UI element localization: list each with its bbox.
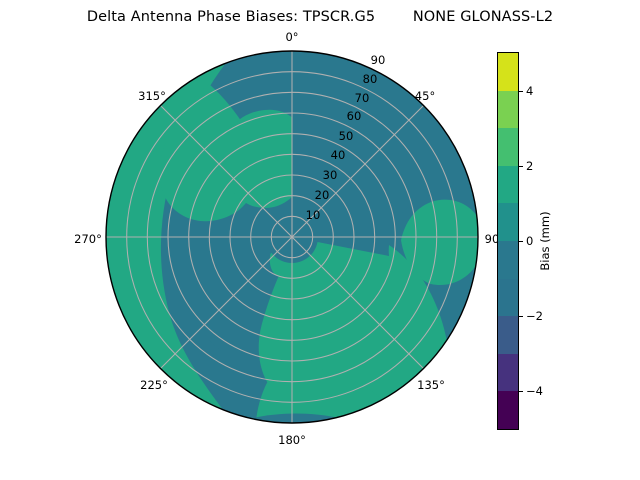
colorbar[interactable] — [497, 52, 519, 430]
theta-tick-270: 270° — [74, 232, 102, 246]
colorbar-band-8 — [498, 354, 518, 392]
colorbar-band-9 — [498, 391, 518, 429]
polar-plot-canvas — [105, 50, 479, 424]
colorbar-band-6 — [498, 279, 518, 317]
page-title: Delta Antenna Phase Biases: TPSCR.G5 NON… — [0, 9, 640, 25]
colorbar-band-2 — [498, 128, 518, 166]
cb-tick-neg4-mark — [519, 91, 523, 92]
colorbar-band-5 — [498, 241, 518, 279]
cb-tick-neg4: 4 — [526, 84, 533, 98]
colorbar-band-3 — [498, 166, 518, 204]
polar-grid — [106, 51, 478, 423]
cb-tick-2-mark — [519, 316, 523, 317]
colorbar-band-1 — [498, 91, 518, 129]
cb-tick-2: −2 — [526, 309, 543, 323]
cb-tick-0: 0 — [526, 234, 533, 248]
theta-tick-180: 180° — [278, 433, 306, 447]
cb-tick-0-mark — [519, 241, 523, 242]
cb-tick-4-mark — [519, 391, 523, 392]
colorbar-band-0 — [498, 53, 518, 91]
cb-tick-neg2: 2 — [526, 159, 533, 173]
cb-tick-neg2-mark — [519, 166, 523, 167]
cb-tick-4: −4 — [526, 384, 543, 398]
colorbar-band-7 — [498, 316, 518, 354]
colorbar-axis-label: Bias (mm) — [538, 211, 552, 270]
theta-tick-0: 0° — [285, 30, 298, 44]
colorbar-band-4 — [498, 203, 518, 241]
polar-axes — [105, 50, 479, 424]
